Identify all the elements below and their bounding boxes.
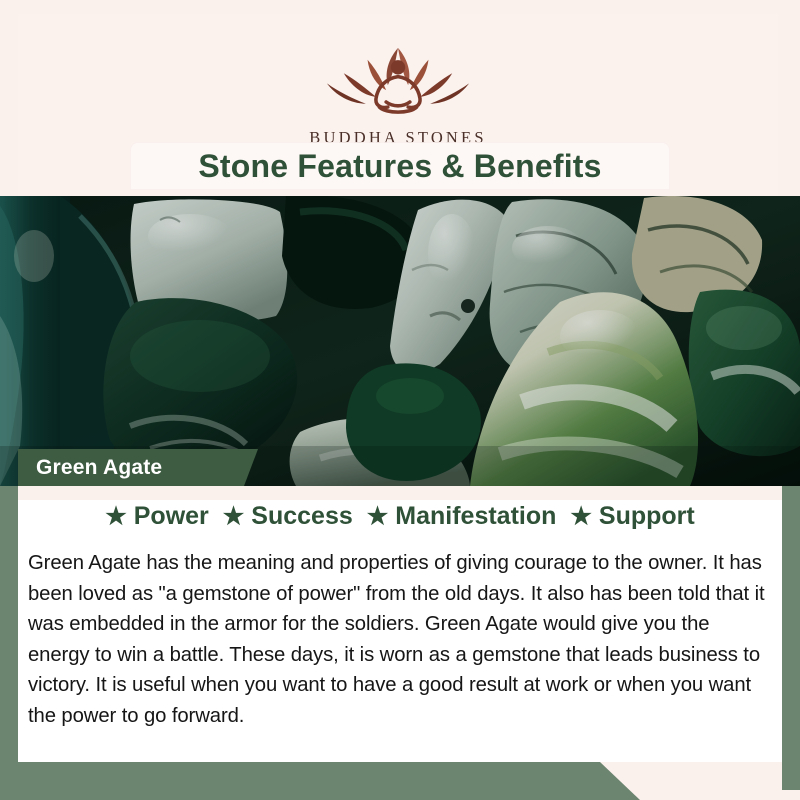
- benefit-item: ★ Support: [570, 502, 694, 531]
- stone-description: Green Agate has the meaning and properti…: [28, 548, 770, 731]
- benefit-label: Success: [251, 502, 352, 531]
- content-panel: ★ Power ★ Success ★ Manifestation ★ Supp…: [18, 486, 782, 762]
- benefit-item: ★ Success: [223, 502, 353, 531]
- benefit-item: ★ Manifestation: [367, 502, 557, 531]
- page-title: Stone Features & Benefits: [198, 148, 601, 185]
- stone-name: Green Agate: [18, 456, 162, 480]
- benefit-label: Power: [134, 502, 209, 531]
- star-icon: ★: [367, 505, 389, 529]
- lotus-meditation-icon: [313, 36, 483, 124]
- benefit-label: Manifestation: [395, 502, 556, 531]
- green-agate-stones-photo: [0, 196, 800, 486]
- stone-info-card: BUDDHA STONES Stone Features & Benefits: [0, 0, 800, 800]
- benefits-list: ★ Power ★ Success ★ Manifestation ★ Supp…: [18, 502, 782, 531]
- benefit-label: Support: [599, 502, 695, 531]
- benefit-item: ★ Power: [105, 502, 209, 531]
- star-icon: ★: [105, 505, 127, 529]
- decoration-bottom-bar: [0, 762, 800, 800]
- star-icon: ★: [570, 505, 592, 529]
- section-title-banner: Stone Features & Benefits: [131, 143, 669, 189]
- brand-logo: BUDDHA STONES: [18, 36, 778, 148]
- star-icon: ★: [223, 505, 245, 529]
- stone-name-tag: Green Agate: [18, 449, 258, 486]
- content-top-divider: [18, 486, 782, 500]
